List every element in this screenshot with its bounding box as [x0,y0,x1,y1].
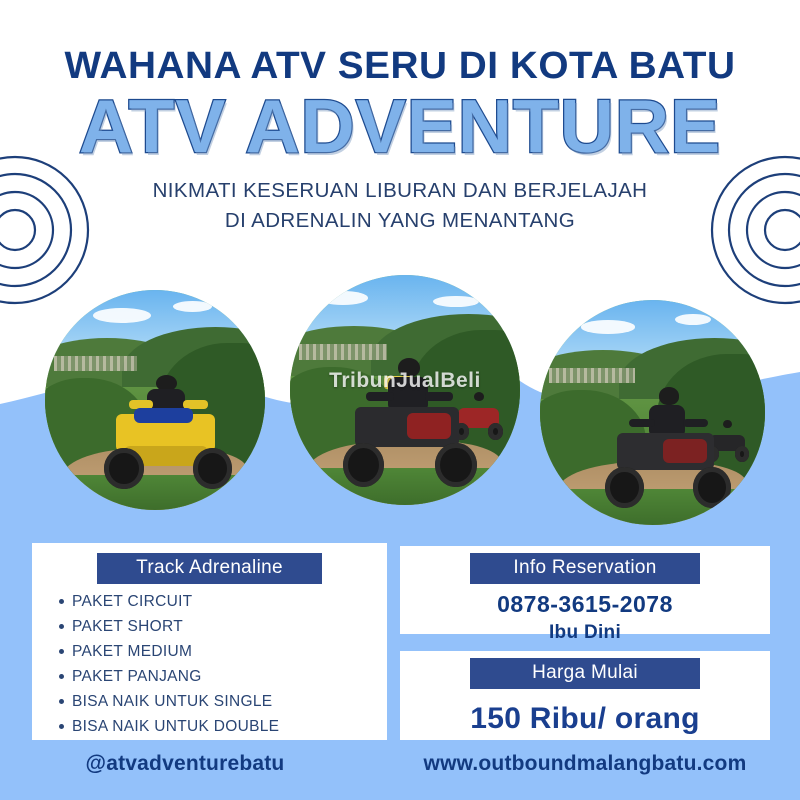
list-item: PAKET MEDIUM [72,644,387,660]
price-value: 150 Ribu/ orang [400,702,770,736]
price-panel-heading: Harga Mulai [470,658,700,689]
track-list: PAKET CIRCUIT PAKET SHORT PAKET MEDIUM P… [32,594,387,735]
list-item: PAKET PANJANG [72,669,387,685]
list-item: BISA NAIK UNTUK SINGLE [72,694,387,710]
list-item: PAKET SHORT [72,619,387,635]
track-panel-heading: Track Adrenaline [97,553,322,584]
reservation-panel: Info Reservation 0878-3615-2078 Ibu Dini [400,546,770,634]
price-panel: Harga Mulai 150 Ribu/ orang [400,651,770,740]
footer: @atvadventurebatu www.outboundmalangbatu… [0,752,800,776]
track-panel: Track Adrenaline PAKET CIRCUIT PAKET SHO… [32,543,387,740]
reservation-panel-heading: Info Reservation [470,553,700,584]
instagram-handle[interactable]: @atvadventurebatu [0,752,370,776]
list-item: BISA NAIK UNTUK DOUBLE [72,719,387,735]
reservation-contact-person: Ibu Dini [400,622,770,644]
reservation-phone-number[interactable]: 0878-3615-2078 [400,591,770,618]
info-panels: Track Adrenaline PAKET CIRCUIT PAKET SHO… [0,0,800,800]
website-url[interactable]: www.outboundmalangbatu.com [370,752,800,776]
list-item: PAKET CIRCUIT [72,594,387,610]
poster-root: WAHANA ATV SERU DI KOTA BATU ATV ADVENTU… [0,0,800,800]
